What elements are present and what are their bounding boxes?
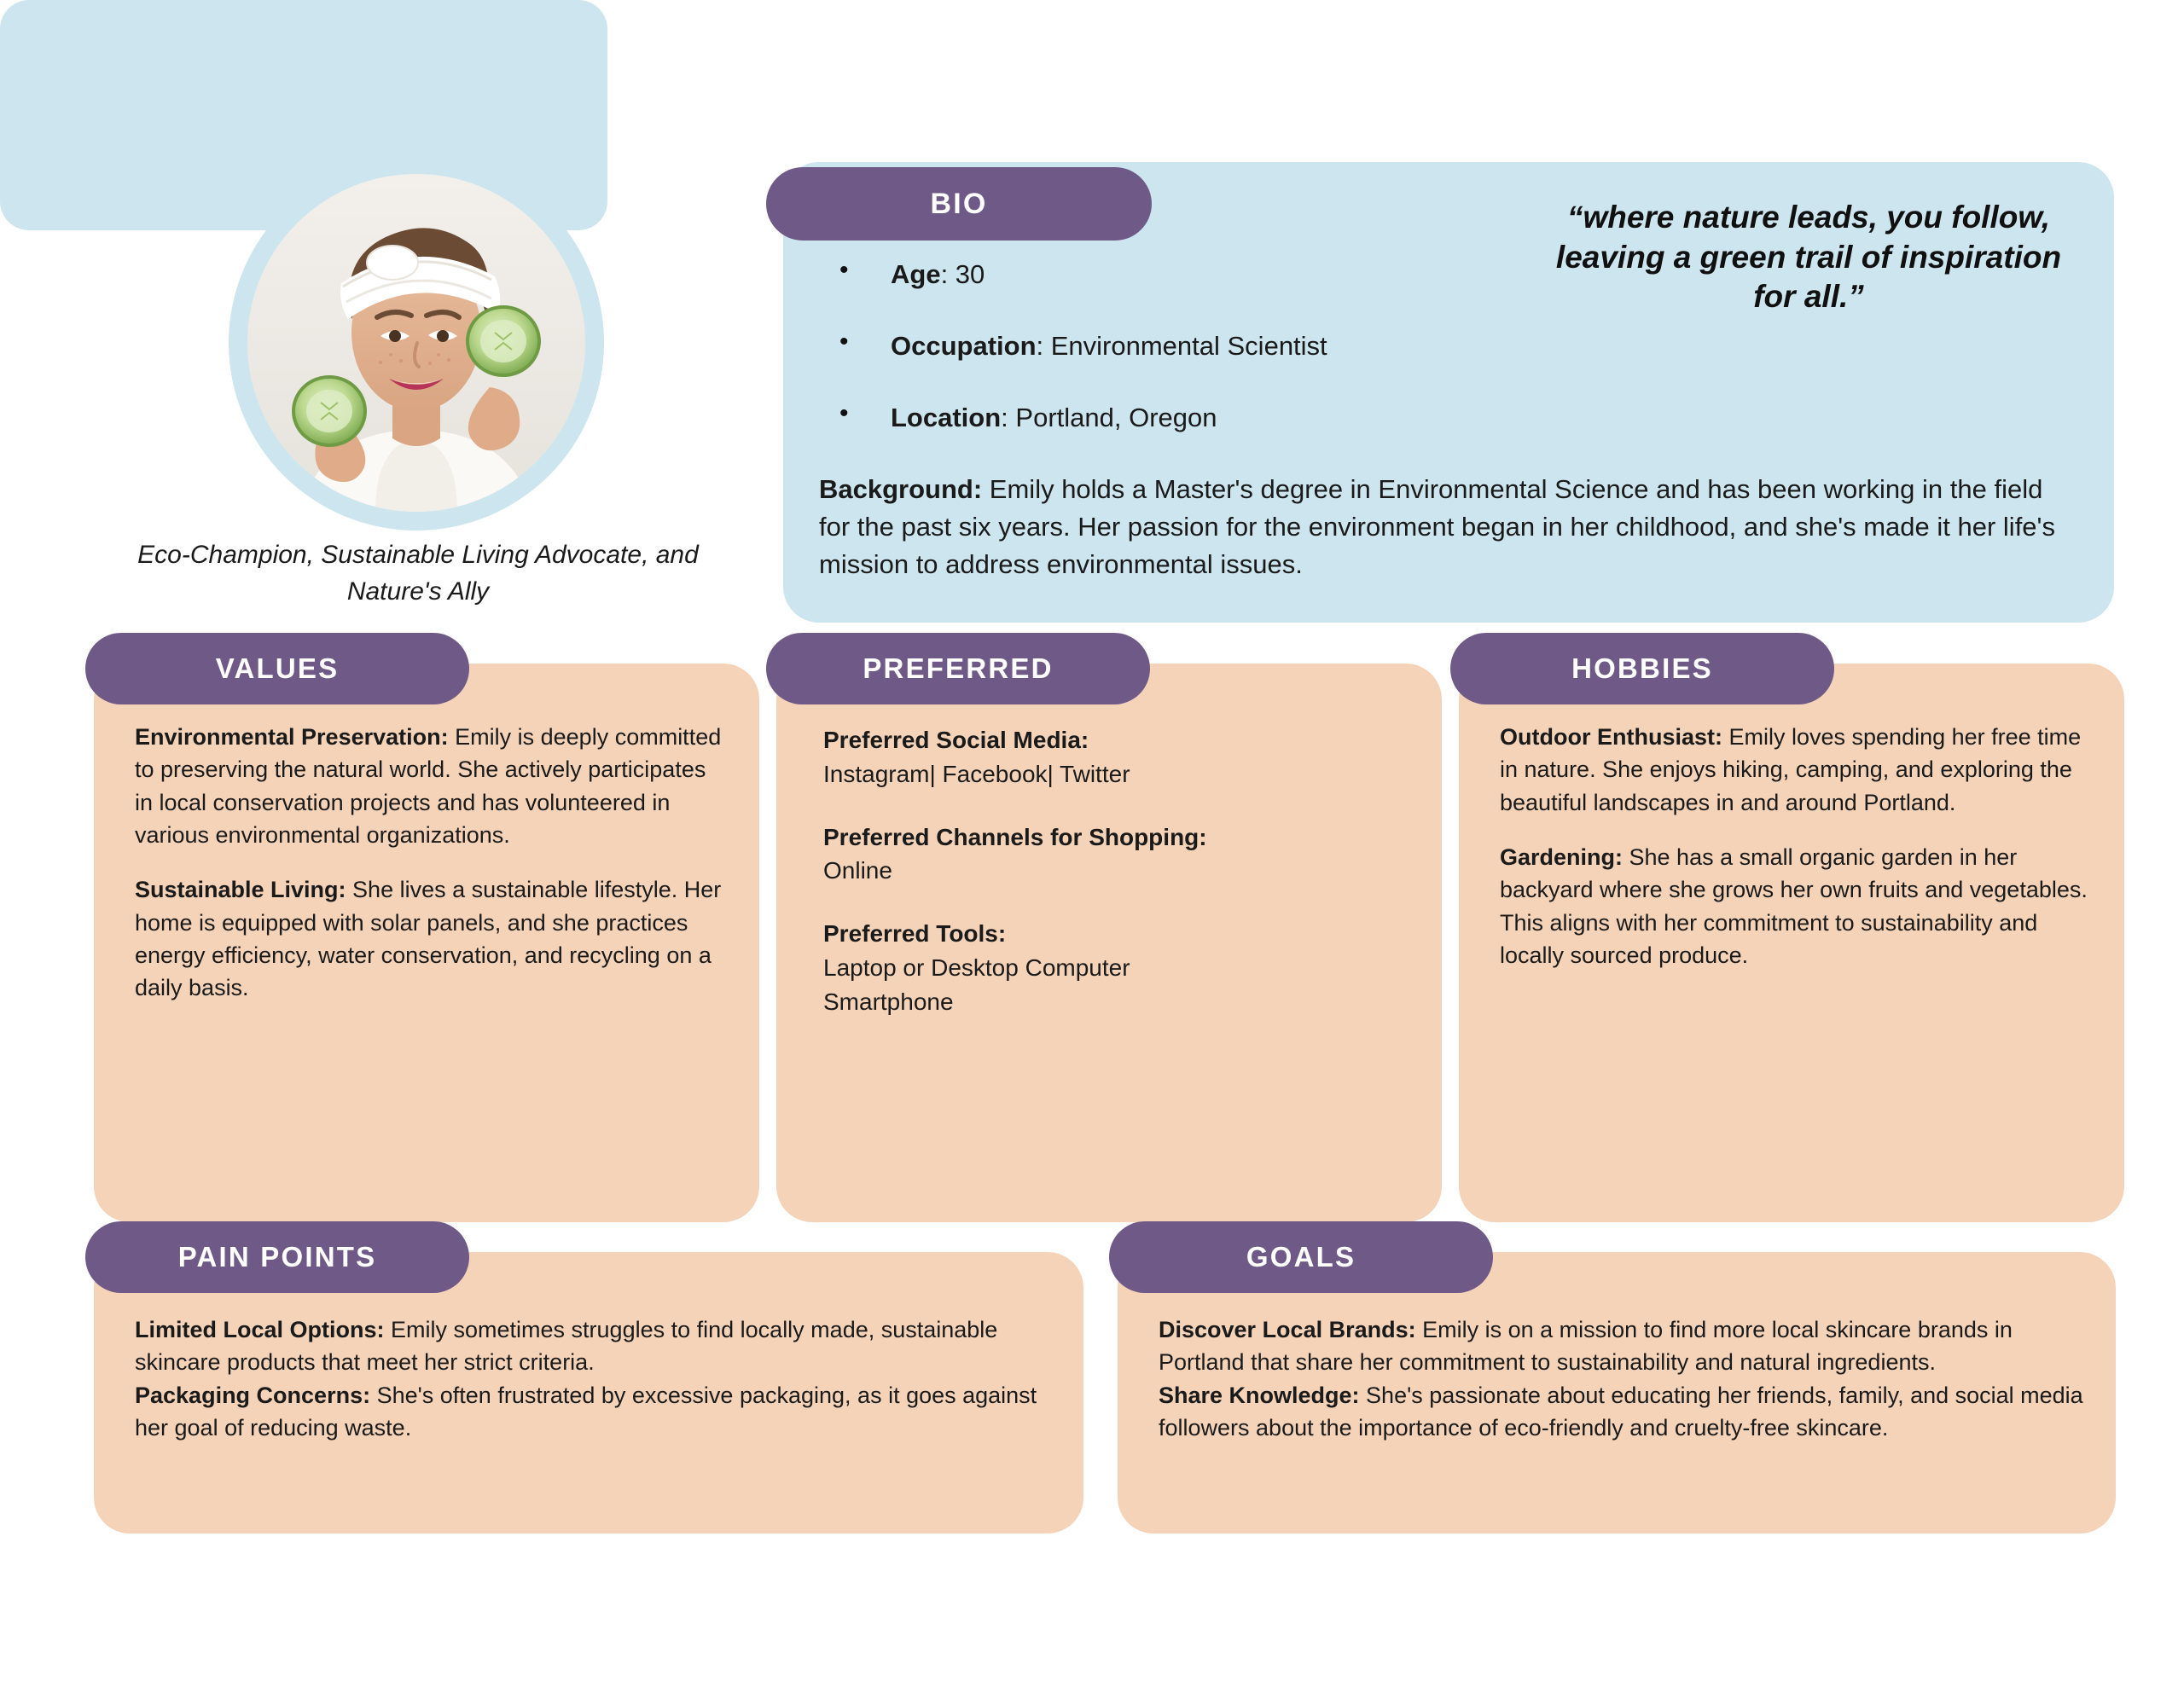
values-paragraph-2: Sustainable Living: She lives a sustaina… [135, 873, 723, 1004]
goals-paragraph-1-label: Discover Local Brands: [1159, 1317, 1416, 1342]
bio-background-label: Background: [819, 474, 982, 504]
hobbies-paragraph-1: Outdoor Enthusiast: Emily loves spending… [1500, 721, 2097, 819]
preferred-section-title: PREFERRED [766, 633, 1150, 704]
persona-caption: Eco-Champion, Sustainable Living Advocat… [128, 537, 708, 610]
bio-item-location-value: : Portland, Oregon [1001, 403, 1217, 432]
goals-paragraph-1: Discover Local Brands: Emily is on a mis… [1159, 1313, 2097, 1379]
preferred-content: Preferred Social Media: Instagram| Faceb… [823, 723, 1412, 1018]
goals-paragraph-2: Share Knowledge: She's passionate about … [1159, 1379, 2097, 1445]
preferred-entry-tools-value: Laptop or Desktop Computer Smartphone [823, 951, 1412, 1019]
bio-item-location-label: Location [891, 403, 1001, 432]
woman-with-cucumber-slices-photo [247, 174, 585, 512]
avatar [229, 155, 604, 530]
values-paragraph-1-label: Environmental Preservation: [135, 724, 449, 750]
bio-section-title: BIO [766, 167, 1152, 241]
pain-points-paragraph-2-label: Packaging Concerns: [135, 1383, 370, 1408]
preferred-entry-social-media-key: Preferred Social Media: [823, 723, 1412, 757]
preferred-entry-tools: Preferred Tools: Laptop or Desktop Compu… [823, 917, 1412, 1018]
persona-sheet: Eco-Champion, Sustainable Living Advocat… [0, 0, 2184, 1687]
goals-content: Discover Local Brands: Emily is on a mis… [1159, 1313, 2097, 1444]
goals-paragraph-2-label: Share Knowledge: [1159, 1383, 1360, 1408]
values-content: Environmental Preservation: Emily is dee… [135, 721, 723, 1005]
preferred-entry-social-media: Preferred Social Media: Instagram| Faceb… [823, 723, 1412, 791]
hobbies-paragraph-2-label: Gardening: [1500, 844, 1623, 870]
values-section-title: VALUES [85, 633, 469, 704]
hobbies-paragraph-2: Gardening: She has a small organic garde… [1500, 841, 2097, 971]
values-paragraph-1: Environmental Preservation: Emily is dee… [135, 721, 723, 851]
bio-item-occupation-value: : Environmental Scientist [1037, 331, 1327, 361]
preferred-entry-tools-key: Preferred Tools: [823, 917, 1412, 951]
preferred-entry-shopping-key: Preferred Channels for Shopping: [823, 820, 1412, 855]
hobbies-section-title: HOBBIES [1450, 633, 1834, 704]
persona-quote: “where nature leads, you follow, leaving… [1534, 198, 2083, 317]
bio-item-location: Location: Portland, Oregon [819, 399, 2065, 437]
pain-points-content: Limited Local Options: Emily sometimes s… [135, 1313, 1065, 1444]
pain-points-paragraph-2: Packaging Concerns: She's often frustrat… [135, 1379, 1065, 1445]
bio-background: Background: Emily holds a Master's degre… [819, 471, 2065, 583]
hobbies-paragraph-1-label: Outdoor Enthusiast: [1500, 724, 1722, 750]
pain-points-paragraph-1-label: Limited Local Options: [135, 1317, 385, 1342]
bio-background-text: Emily holds a Master's degree in Environ… [819, 474, 2055, 579]
pain-points-paragraph-1: Limited Local Options: Emily sometimes s… [135, 1313, 1065, 1379]
preferred-entry-shopping-value: Online [823, 854, 1412, 888]
pain-points-section-title: PAIN POINTS [85, 1221, 469, 1293]
bio-item-age-value: : 30 [941, 259, 985, 289]
avatar-photo [247, 174, 585, 512]
values-paragraph-2-label: Sustainable Living: [135, 877, 346, 902]
bio-item-occupation: Occupation: Environmental Scientist [819, 328, 2065, 365]
goals-section-title: GOALS [1109, 1221, 1493, 1293]
bio-item-occupation-label: Occupation [891, 331, 1037, 361]
preferred-entry-shopping: Preferred Channels for Shopping: Online [823, 820, 1412, 889]
bio-item-age-label: Age [891, 259, 941, 289]
preferred-entry-social-media-value: Instagram| Facebook| Twitter [823, 757, 1412, 791]
hobbies-content: Outdoor Enthusiast: Emily loves spending… [1500, 721, 2097, 971]
